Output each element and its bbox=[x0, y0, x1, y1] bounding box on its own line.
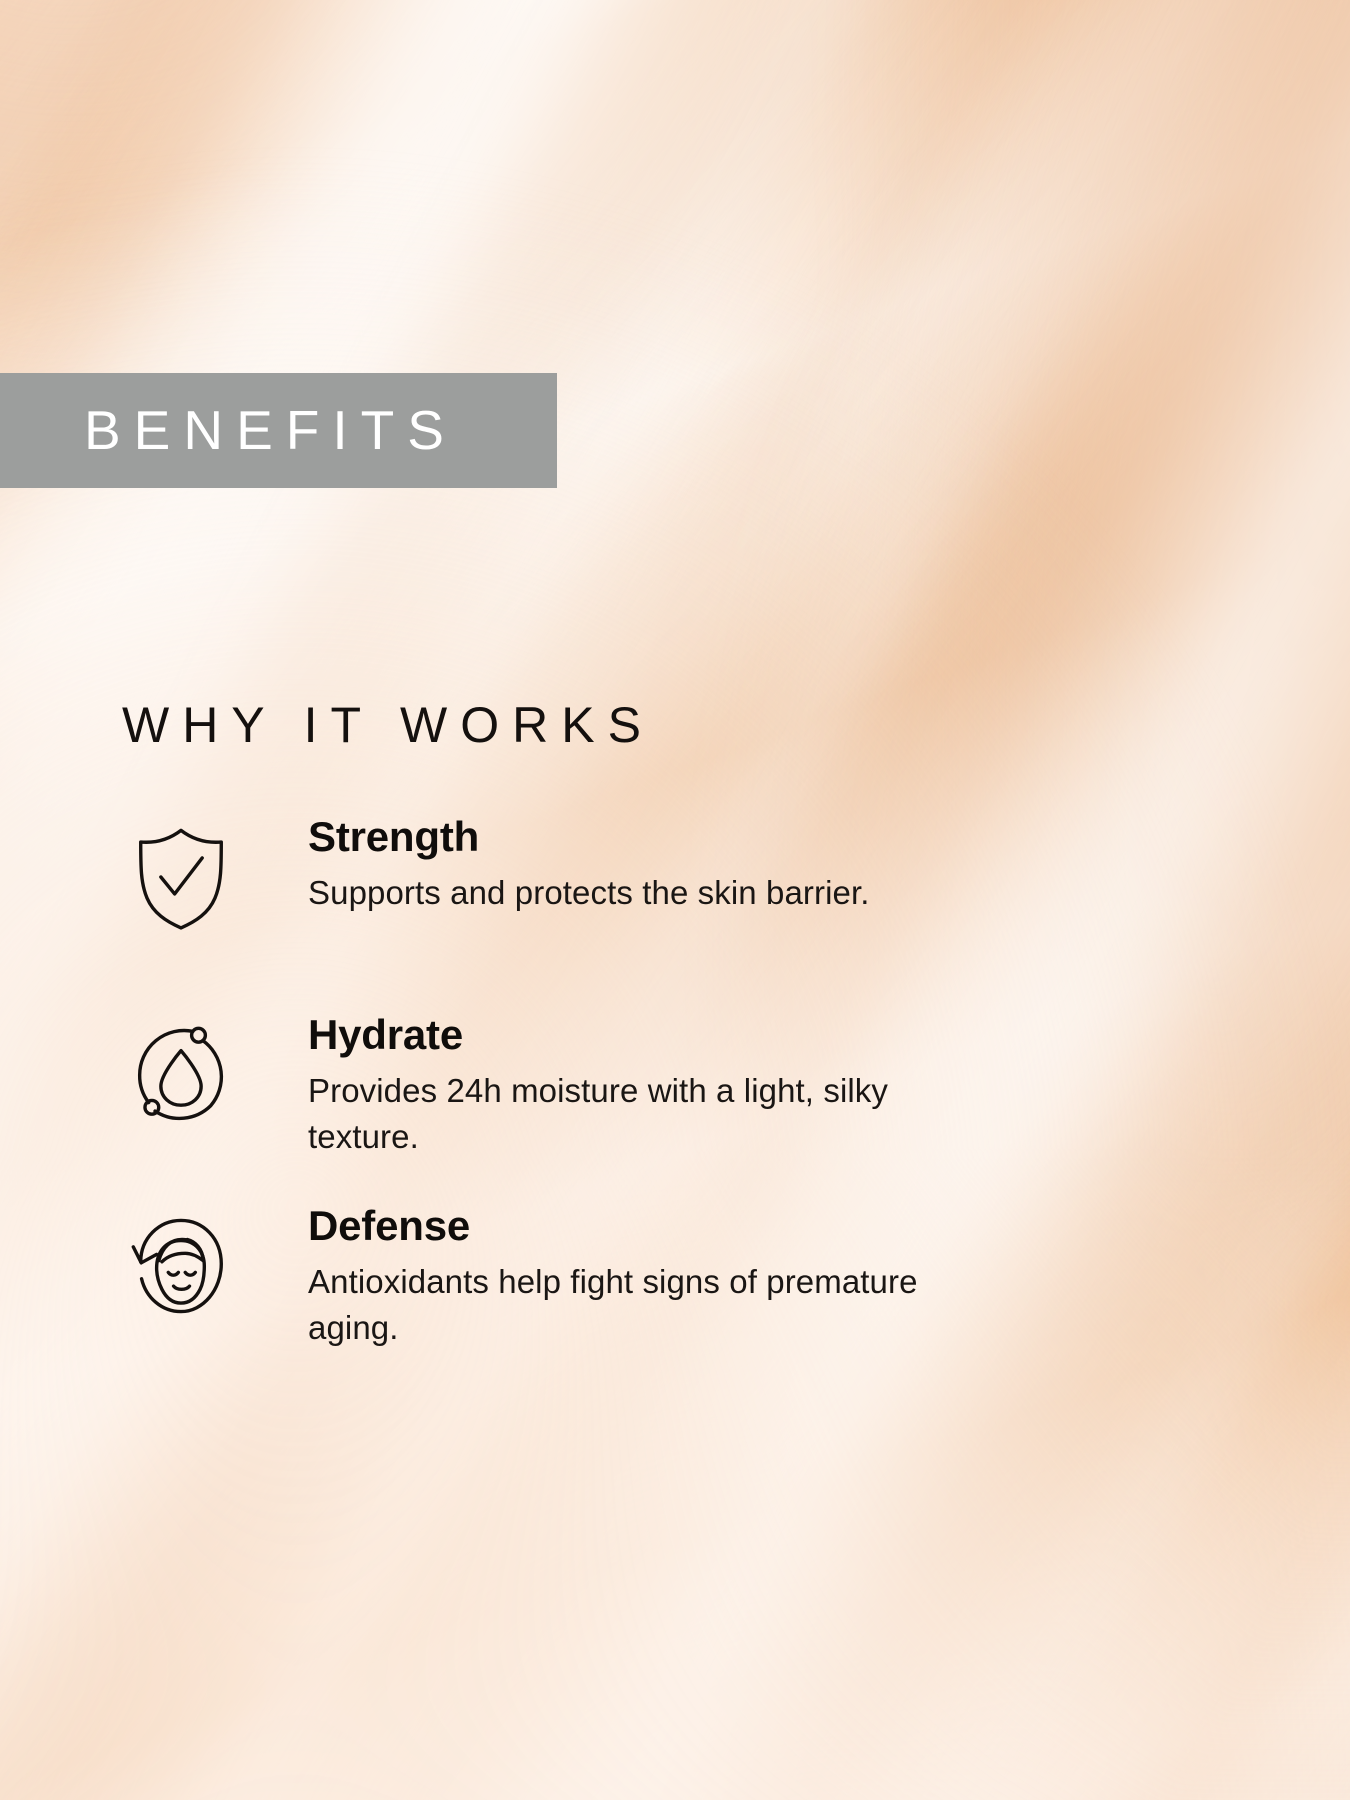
list-item: Strength Supports and protects the skin … bbox=[122, 810, 1142, 936]
benefit-title: Strength bbox=[308, 814, 870, 860]
benefit-description: Supports and protects the skin barrier. bbox=[308, 870, 870, 916]
page-title: WHY IT WORKS bbox=[122, 700, 654, 750]
benefit-list: Strength Supports and protects the skin … bbox=[122, 810, 1142, 1351]
benefit-title: Defense bbox=[308, 1203, 1008, 1249]
benefits-badge-label: BENEFITS bbox=[0, 403, 457, 458]
page-content: BENEFITS WHY IT WORKS Strength Supports … bbox=[0, 0, 1350, 1800]
face-refresh-icon bbox=[122, 1207, 240, 1325]
benefit-title: Hydrate bbox=[308, 1012, 948, 1058]
list-item: Hydrate Provides 24h moisture with a lig… bbox=[122, 1008, 1142, 1159]
benefit-description: Provides 24h moisture with a light, silk… bbox=[308, 1068, 948, 1159]
benefit-text-block: Strength Supports and protects the skin … bbox=[240, 810, 870, 916]
list-item: Defense Antioxidants help fight signs of… bbox=[122, 1199, 1142, 1350]
shield-check-icon bbox=[122, 818, 240, 936]
benefit-text-block: Defense Antioxidants help fight signs of… bbox=[240, 1199, 1008, 1350]
benefits-badge: BENEFITS bbox=[0, 373, 557, 488]
water-droplet-circle-icon bbox=[122, 1016, 240, 1134]
benefit-description: Antioxidants help fight signs of prematu… bbox=[308, 1259, 1008, 1350]
benefit-text-block: Hydrate Provides 24h moisture with a lig… bbox=[240, 1008, 948, 1159]
